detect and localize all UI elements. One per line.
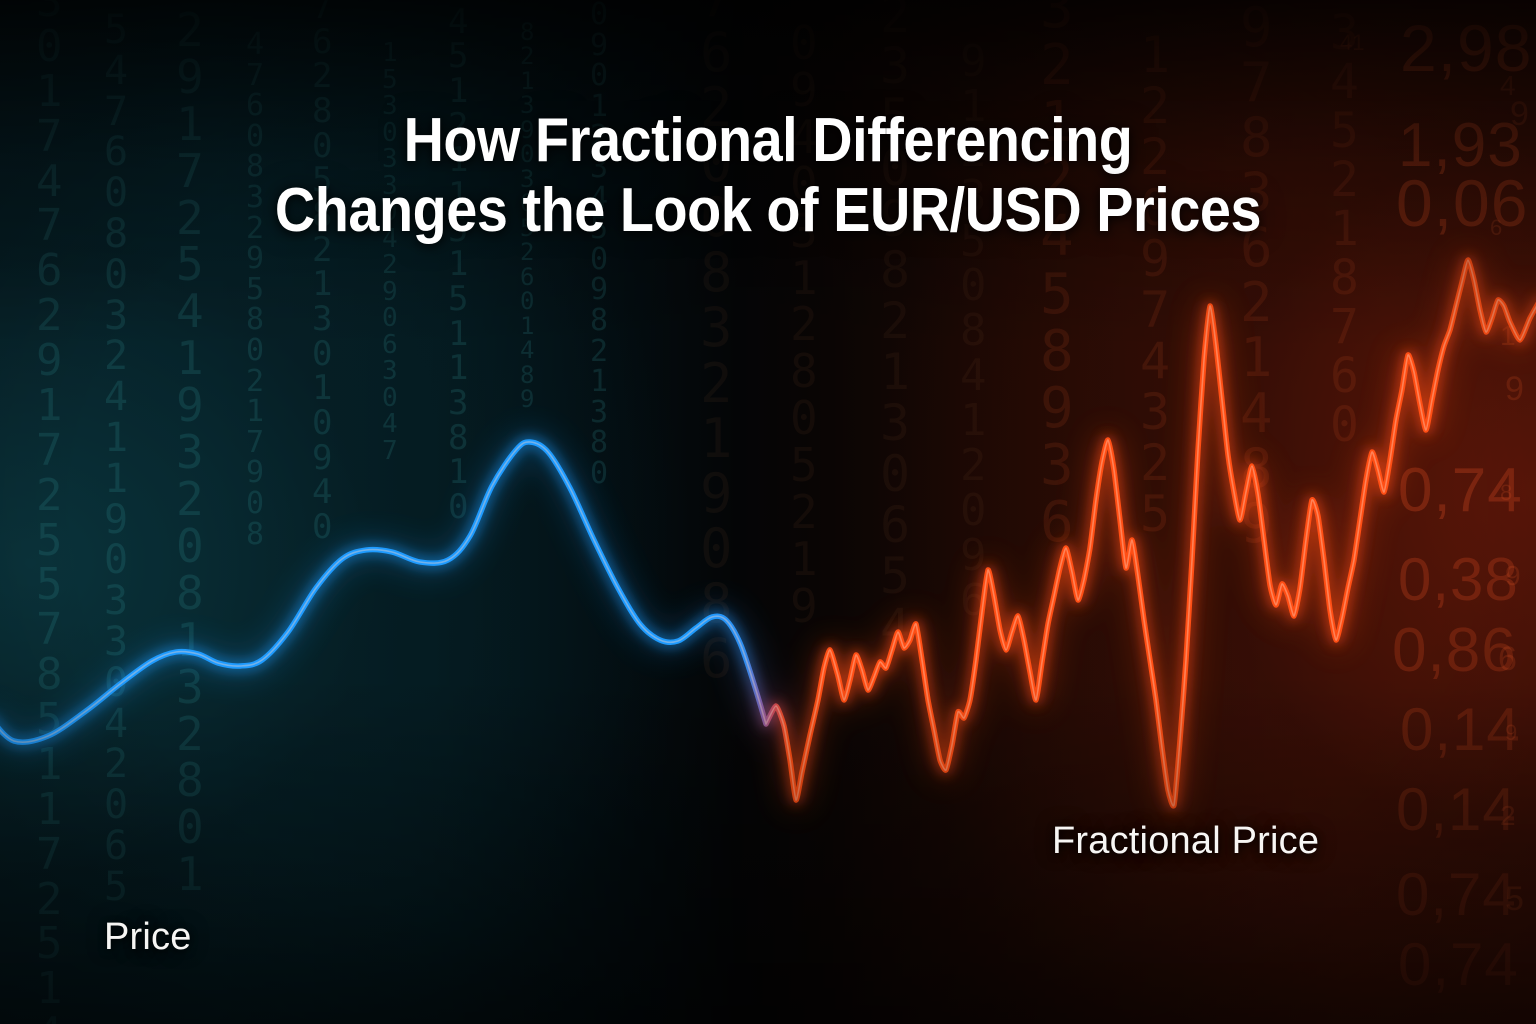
price-line-core <box>0 260 1536 806</box>
poster-canvas: 3 0 1 7 4 7 6 2 9 1 7 2 5 5 7 8 5 1 1 7 … <box>0 0 1536 1024</box>
price-chart <box>0 0 1536 1024</box>
